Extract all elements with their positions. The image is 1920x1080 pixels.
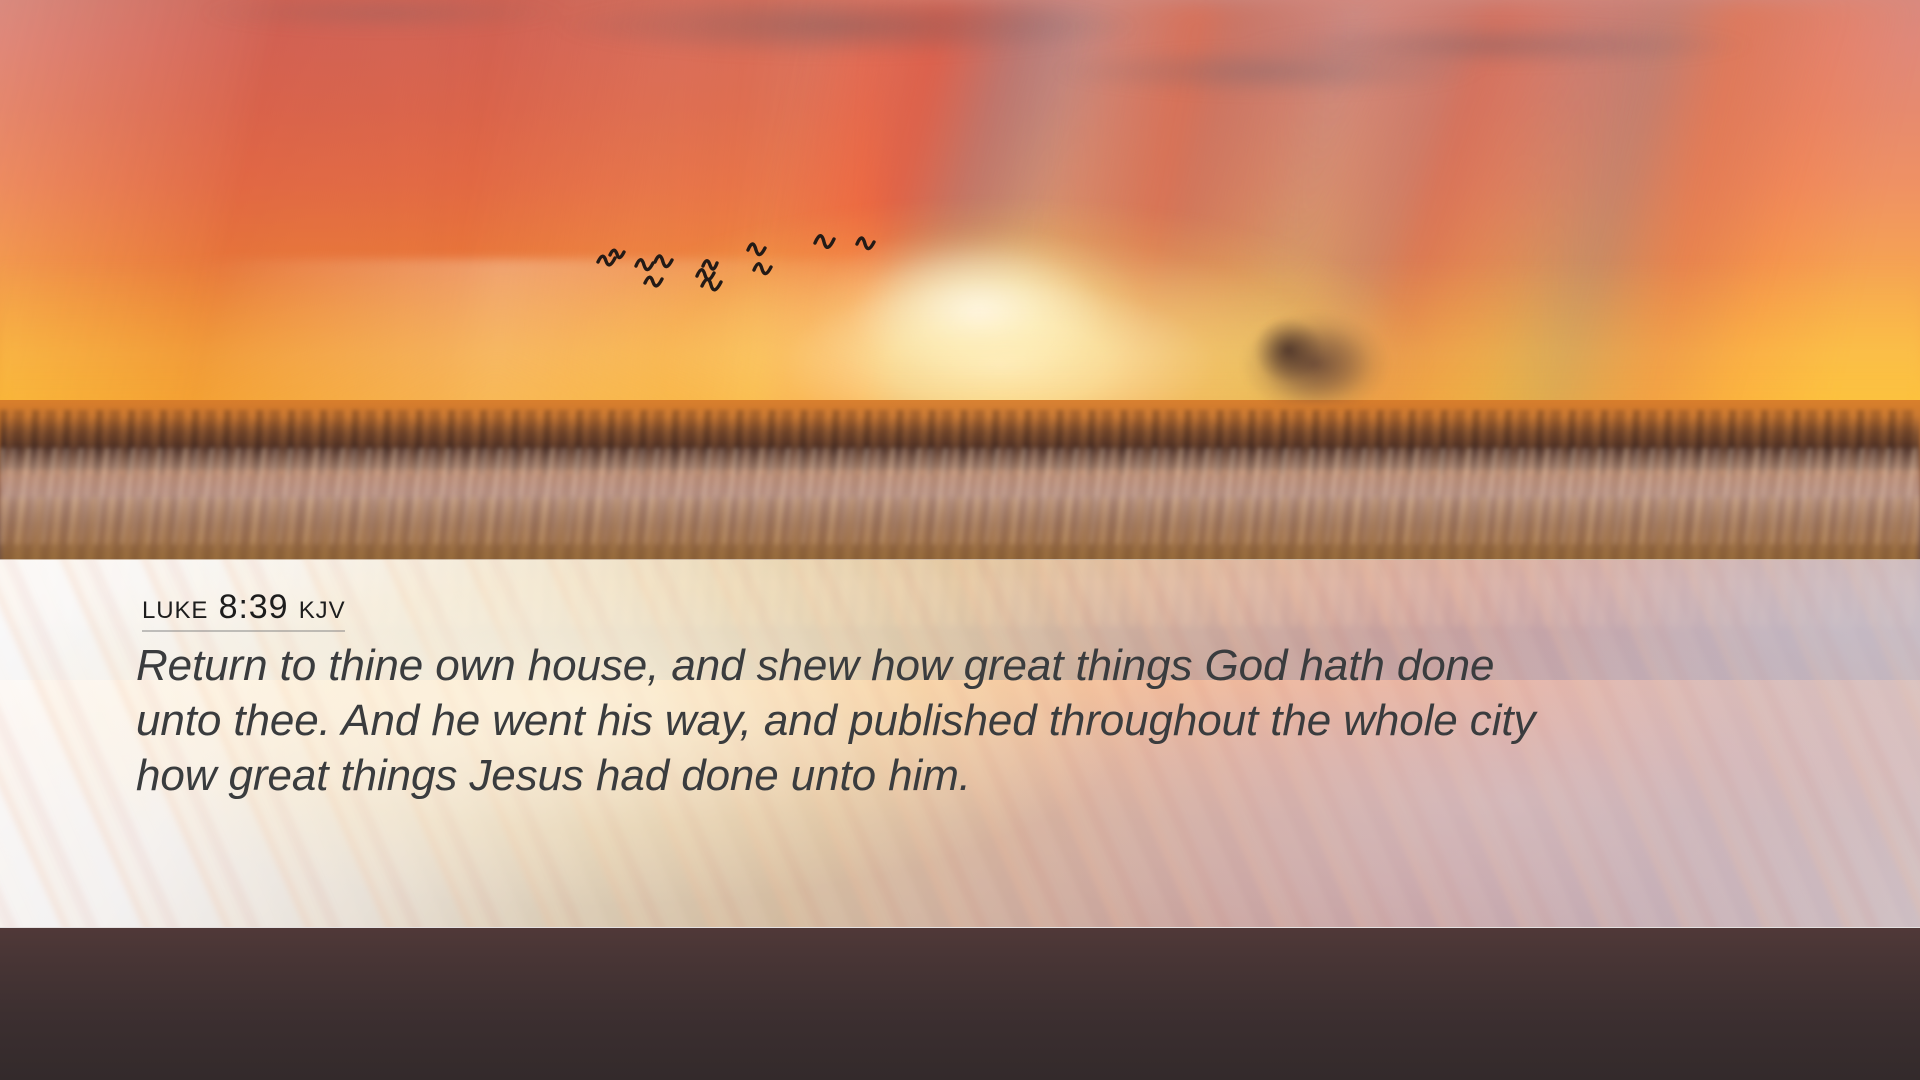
verse-content: Luke 8:39 KJV Return to thine own house,… [0, 0, 1920, 1080]
verse-body-text: Return to thine own house, and shew how … [136, 638, 1536, 803]
wallpaper-canvas: Luke 8:39 KJV Return to thine own house,… [0, 0, 1920, 1080]
verse-reference: Luke 8:39 KJV [142, 590, 345, 632]
